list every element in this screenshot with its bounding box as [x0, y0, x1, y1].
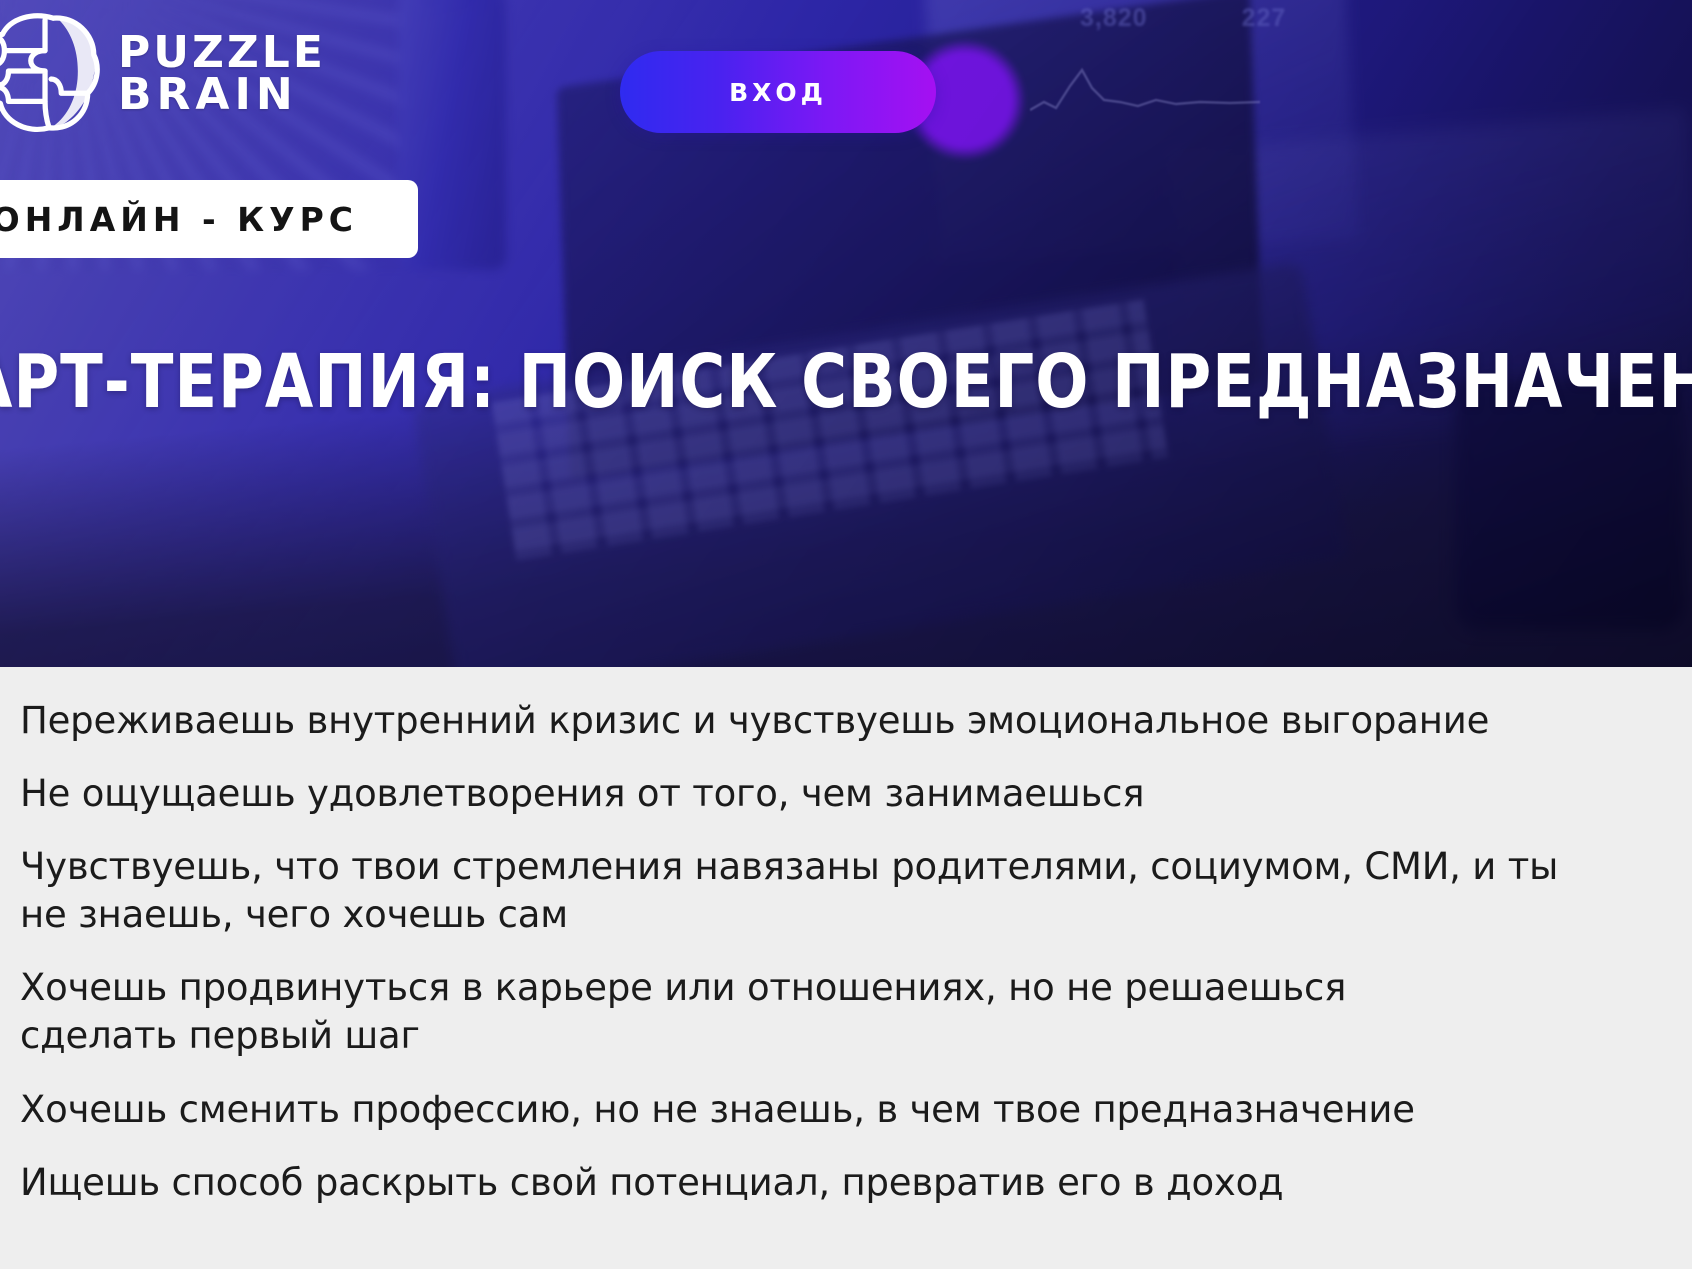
list-item: Ищешь способ раскрыть свой потенциал, пр…: [0, 1159, 1692, 1207]
brand-name-line-2: BRAIN: [118, 74, 326, 116]
list-item: Чувствуешь, что твои стремления навязаны…: [0, 843, 1692, 939]
brand-name: PUZZLE BRAIN: [118, 32, 326, 116]
login-button[interactable]: ВХОД: [620, 51, 936, 133]
hero-section: 3,820 227: [0, 0, 1692, 667]
course-type-badge-label: ОНЛАЙН - КУРС: [0, 200, 358, 239]
list-item: Хочешь продвинуться в карьере или отноше…: [0, 964, 1692, 1060]
landing-page: 3,820 227: [0, 0, 1692, 1269]
list-item: Хочешь сменить профессию, но не знаешь, …: [0, 1086, 1692, 1134]
benefits-list: Переживаешь внутренний кризис и чувствуе…: [0, 667, 1692, 1269]
brand-logo[interactable]: PUZZLE BRAIN: [0, 8, 326, 140]
list-item: Переживаешь внутренний кризис и чувствуе…: [0, 697, 1692, 745]
page-title: АРТ-ТЕРАПИЯ: ПОИСК СВОЕГО ПРЕДНАЗНАЧЕНИЯ: [0, 337, 1692, 427]
list-item: Не ощущаешь удовлетворения от того, чем …: [0, 770, 1692, 818]
brand-name-line-1: PUZZLE: [118, 32, 326, 74]
course-type-badge: ОНЛАЙН - КУРС: [0, 180, 418, 258]
brain-puzzle-icon: [0, 8, 104, 140]
